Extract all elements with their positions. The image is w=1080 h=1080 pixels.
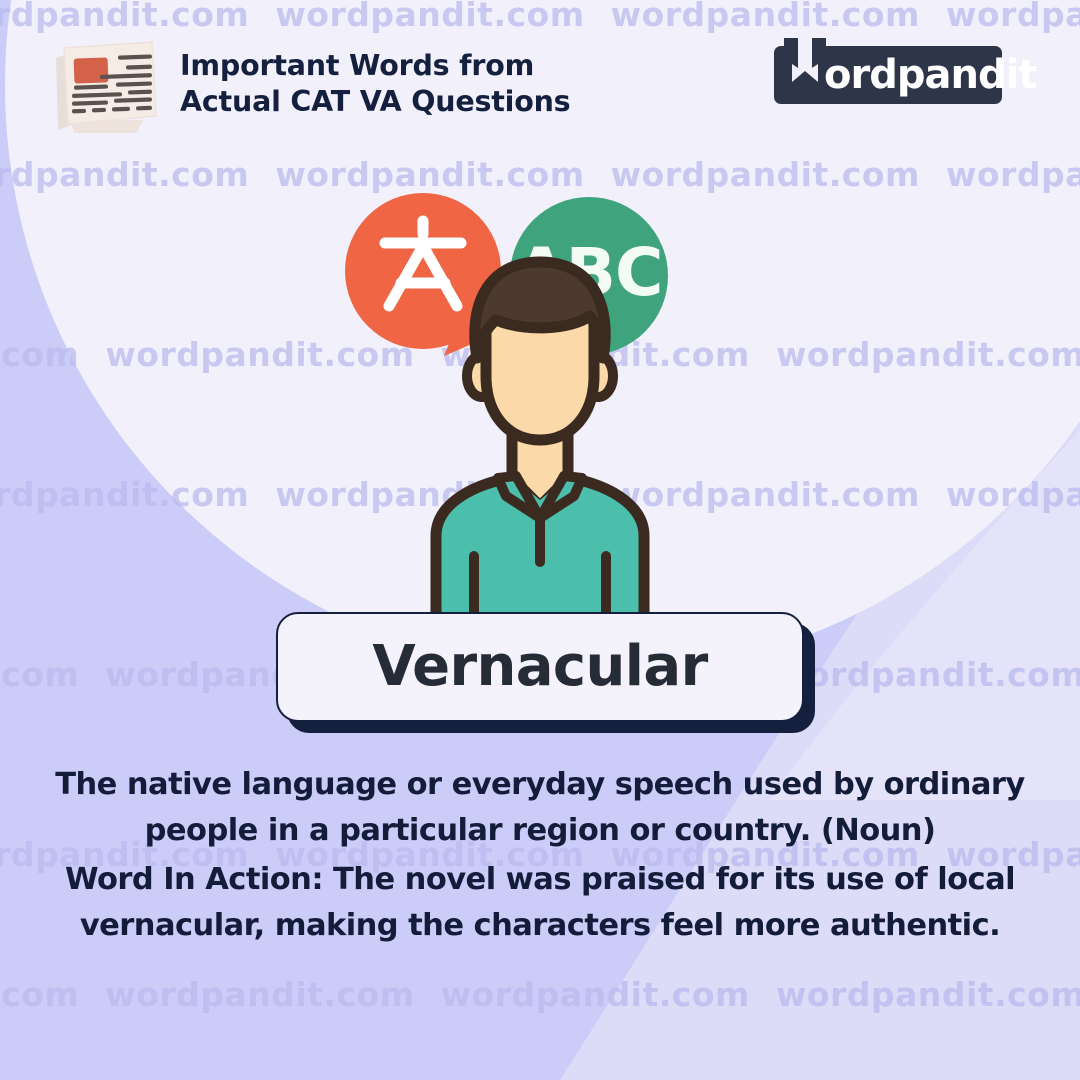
header: Important Words from Actual CAT VA Quest… xyxy=(48,32,570,136)
brand-name: ordpandit xyxy=(824,52,1037,98)
brand-logo[interactable]: ordpandit xyxy=(774,38,1002,104)
page-title: Important Words from Actual CAT VA Quest… xyxy=(180,48,570,121)
newspaper-icon xyxy=(48,32,166,136)
word-card-poster: wordpandit.comwordpandit.comwordpandit.c… xyxy=(0,0,1080,1080)
definition-usage: Word In Action: The novel was praised fo… xyxy=(22,857,1058,950)
word-card: Vernacular xyxy=(276,612,804,722)
illustration: ABC xyxy=(340,188,740,628)
definition-block: The native language or everyday speech u… xyxy=(0,762,1080,949)
definition-meaning: The native language or everyday speech u… xyxy=(22,762,1058,855)
word-title: Vernacular xyxy=(372,639,707,695)
word-card-surface: Vernacular xyxy=(276,612,804,722)
